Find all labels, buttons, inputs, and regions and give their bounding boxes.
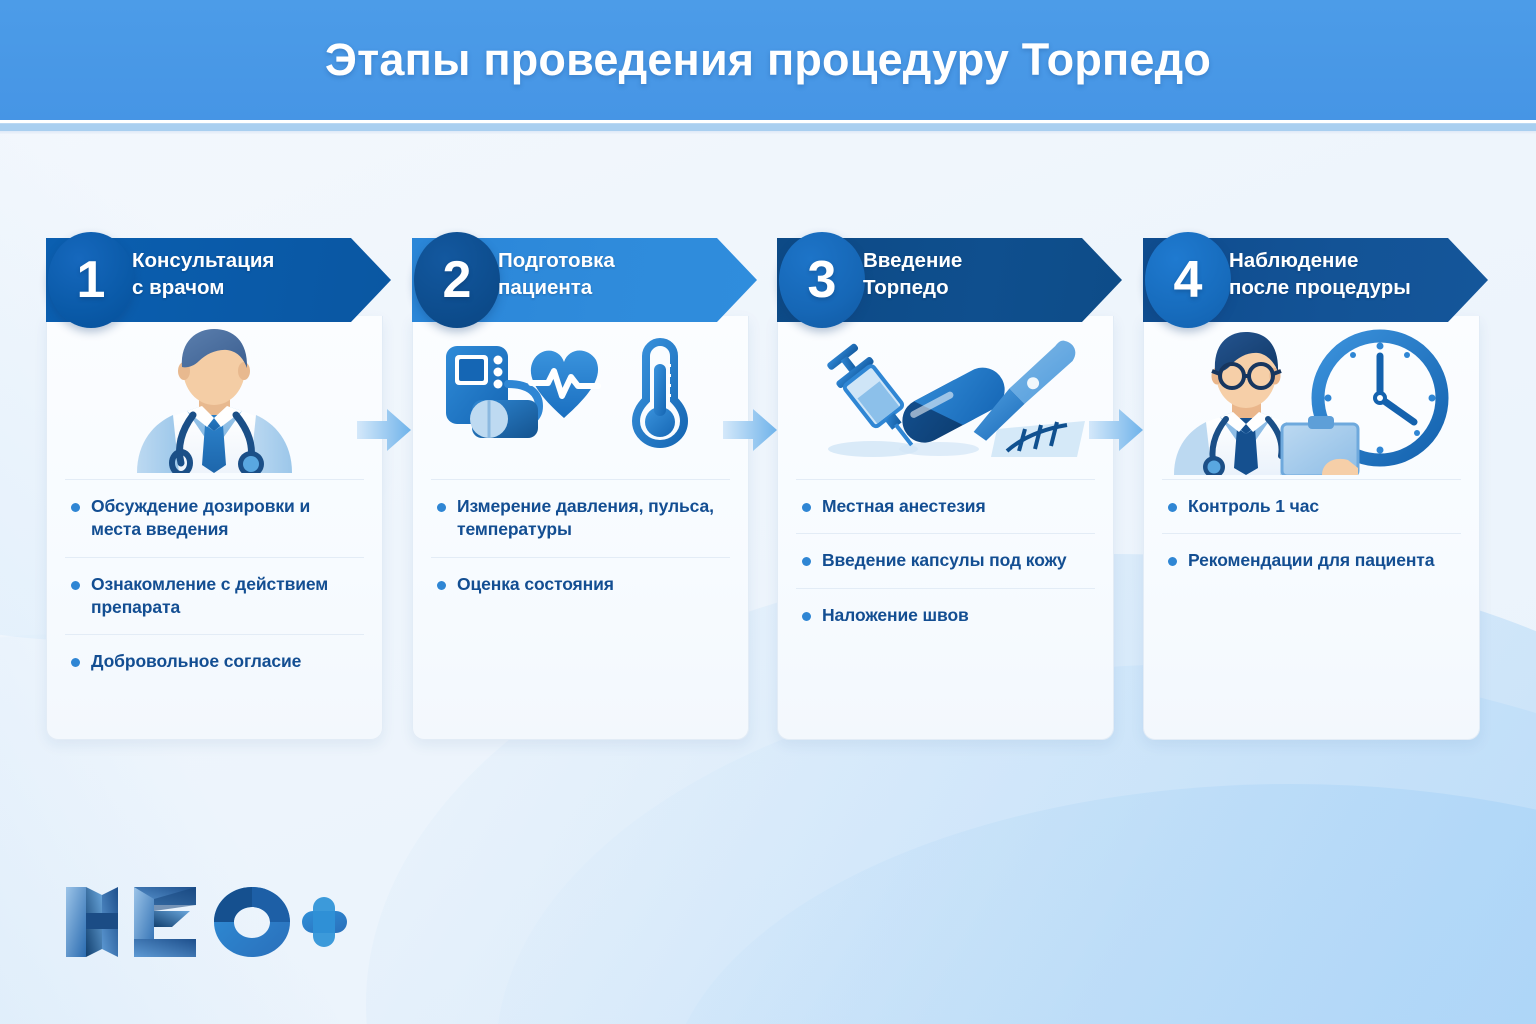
bullet-label: Наложение швов: [822, 604, 969, 627]
step-title-3: Введение Торпедо: [777, 232, 1122, 316]
step-title-line1: Введение: [863, 247, 1122, 274]
step-title-line2: Торпедо: [863, 274, 1122, 301]
step-title-line1: Подготовка: [498, 247, 757, 274]
step-title-line2: пациента: [498, 274, 757, 301]
bullet-label: Обсуждение дозировки и места введения: [91, 495, 360, 542]
arrow-step2-to-step3-icon: [723, 407, 777, 453]
step-bullets-1: Обсуждение дозировки и места введения Оз…: [47, 479, 382, 704]
bullet-label: Введение капсулы под кожу: [822, 549, 1067, 572]
bullet-dot-icon: [437, 581, 446, 590]
logo-plus-icon: [302, 897, 347, 947]
bullet-dot-icon: [802, 612, 811, 621]
bullet-label: Добровольное согласие: [91, 650, 301, 673]
step-title-line2: с врачом: [132, 274, 391, 301]
vitals-monitoring-icons: [438, 338, 723, 458]
step-card-body-2: Измерение давления, пульса, температуры …: [412, 316, 749, 740]
step-icon-area-3: [778, 316, 1113, 479]
list-item[interactable]: Введение капсулы под кожу: [796, 533, 1095, 587]
step-title-4: Наблюдение после процедуры: [1143, 232, 1488, 316]
bullet-dot-icon: [437, 503, 446, 512]
logo-letter-e: [134, 887, 196, 957]
step-title-2: Подготовка пациента: [412, 232, 757, 316]
step-title-line1: Наблюдение: [1229, 247, 1488, 274]
infographic-canvas: Этапы проведения процедуру Торпедо: [0, 0, 1536, 1024]
arrow-step1-to-step2-icon: [357, 407, 411, 453]
bullet-label: Оценка состояния: [457, 573, 614, 596]
step-card-2[interactable]: Измерение давления, пульса, температуры …: [412, 232, 749, 740]
list-item[interactable]: Местная анестезия: [796, 479, 1095, 533]
step-card-body-1: Обсуждение дозировки и места введения Оз…: [46, 316, 383, 740]
page-title: Этапы проведения процедуру Торпедо: [325, 34, 1211, 86]
list-item[interactable]: Оценка состояния: [431, 557, 730, 611]
syringe-capsule-scalpel-icons: [801, 333, 1091, 463]
bullet-dot-icon: [71, 503, 80, 512]
list-item[interactable]: Рекомендации для пациента: [1162, 533, 1461, 587]
step-icon-area-2: [413, 316, 748, 479]
neo-plus-logo-icon: [62, 881, 347, 963]
logo-letter-n: [66, 887, 118, 957]
bullet-label: Измерение давления, пульса, температуры: [457, 495, 726, 542]
header-accent-stripe: [0, 120, 1536, 134]
step-title-1: Консультация с врачом: [46, 232, 391, 316]
step-bullets-3: Местная анестезия Введение капсулы под к…: [778, 479, 1113, 658]
step-card-body-4: Контроль 1 час Рекомендации для пациента: [1143, 316, 1480, 740]
step-card-4[interactable]: Контроль 1 час Рекомендации для пациента…: [1143, 232, 1480, 740]
bullet-dot-icon: [802, 557, 811, 566]
step-icon-area-4: [1144, 316, 1479, 479]
capsule-icon: [894, 359, 1012, 449]
bullet-dot-icon: [71, 658, 80, 667]
arrow-step3-to-step4-icon: [1089, 407, 1143, 453]
list-item[interactable]: Добровольное согласие: [65, 634, 364, 688]
step-icon-area-1: [47, 316, 382, 479]
bullet-dot-icon: [1168, 503, 1177, 512]
blood-pressure-monitor-icon: [446, 346, 539, 438]
doctor-with-stethoscope-icon: [107, 323, 322, 473]
list-item[interactable]: Измерение давления, пульса, температуры: [431, 479, 730, 557]
list-item[interactable]: Ознакомление с действием препарата: [65, 557, 364, 635]
step-title-line2: после процедуры: [1229, 274, 1488, 301]
bullet-label: Местная анестезия: [822, 495, 986, 518]
step-bullets-4: Контроль 1 час Рекомендации для пациента: [1144, 479, 1479, 604]
step-title-line1: Консультация: [132, 247, 391, 274]
bullet-dot-icon: [802, 503, 811, 512]
step-bullets-2: Измерение давления, пульса, температуры …: [413, 479, 748, 627]
list-item[interactable]: Контроль 1 час: [1162, 479, 1461, 533]
sutures-icon: [991, 421, 1085, 457]
thermometer-icon: [636, 342, 684, 444]
steps-container: Обсуждение дозировки и места введения Оз…: [46, 232, 1490, 740]
step-card-3[interactable]: Местная анестезия Введение капсулы под к…: [777, 232, 1114, 740]
bullet-label: Контроль 1 час: [1188, 495, 1319, 518]
doctor-with-clipboard-and-clock-icon: [1162, 320, 1462, 475]
list-item[interactable]: Наложение швов: [796, 588, 1095, 642]
background-sweep-inner: [666, 784, 1536, 1024]
list-item[interactable]: Обсуждение дозировки и места введения: [65, 479, 364, 557]
logo-letter-o: [214, 887, 290, 957]
clipboard-icon: [1282, 416, 1358, 475]
bullet-label: Рекомендации для пациента: [1188, 549, 1434, 572]
bullet-dot-icon: [1168, 557, 1177, 566]
page-header: Этапы проведения процедуру Торпедо: [0, 0, 1536, 120]
bullet-label: Ознакомление с действием препарата: [91, 573, 360, 620]
step-card-body-3: Местная анестезия Введение капсулы под к…: [777, 316, 1114, 740]
bullet-dot-icon: [71, 581, 80, 590]
syringe-icon: [822, 340, 928, 458]
step-card-1[interactable]: Обсуждение дозировки и места введения Оз…: [46, 232, 383, 740]
brand-logo: [62, 881, 347, 968]
